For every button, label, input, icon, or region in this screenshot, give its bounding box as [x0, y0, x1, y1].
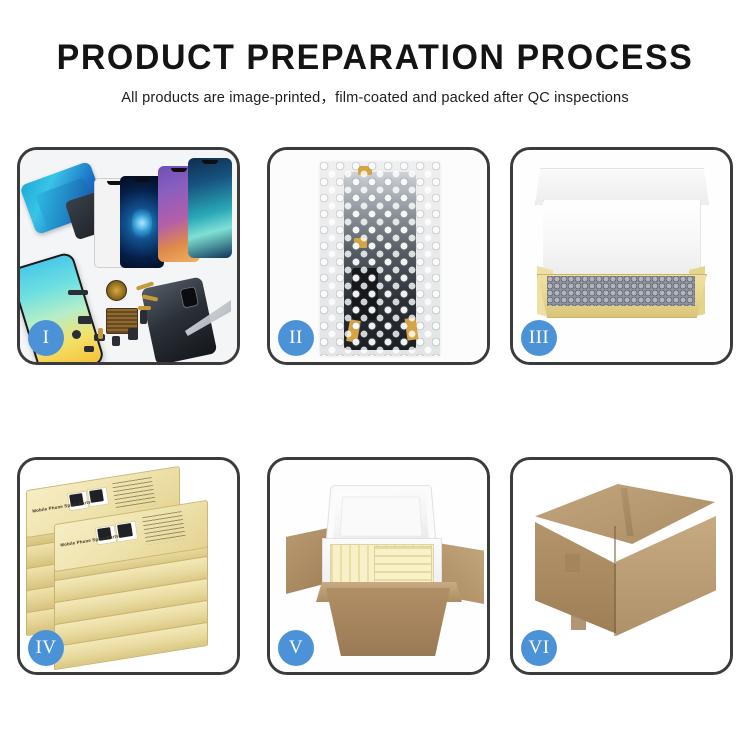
step-badge-6: VI: [521, 630, 557, 666]
process-step-5[interactable]: V: [267, 457, 490, 675]
process-step-3[interactable]: III: [510, 147, 733, 365]
process-step-2[interactable]: II: [267, 147, 490, 365]
step-badge-3: III: [521, 320, 557, 356]
step-badge-2: II: [278, 320, 314, 356]
step-badge-5: V: [278, 630, 314, 666]
process-step-grid: I II: [0, 0, 750, 750]
process-step-6[interactable]: VI: [510, 457, 733, 675]
step-badge-4: IV: [28, 630, 64, 666]
step-badge-1: I: [28, 320, 64, 356]
product-preparation-process-page: PRODUCT PREPARATION PROCESS All products…: [0, 0, 750, 750]
process-step-4[interactable]: Mobile Phone Spare Parts Mobile Phone Sp…: [17, 457, 240, 675]
process-step-1[interactable]: I: [17, 147, 240, 365]
